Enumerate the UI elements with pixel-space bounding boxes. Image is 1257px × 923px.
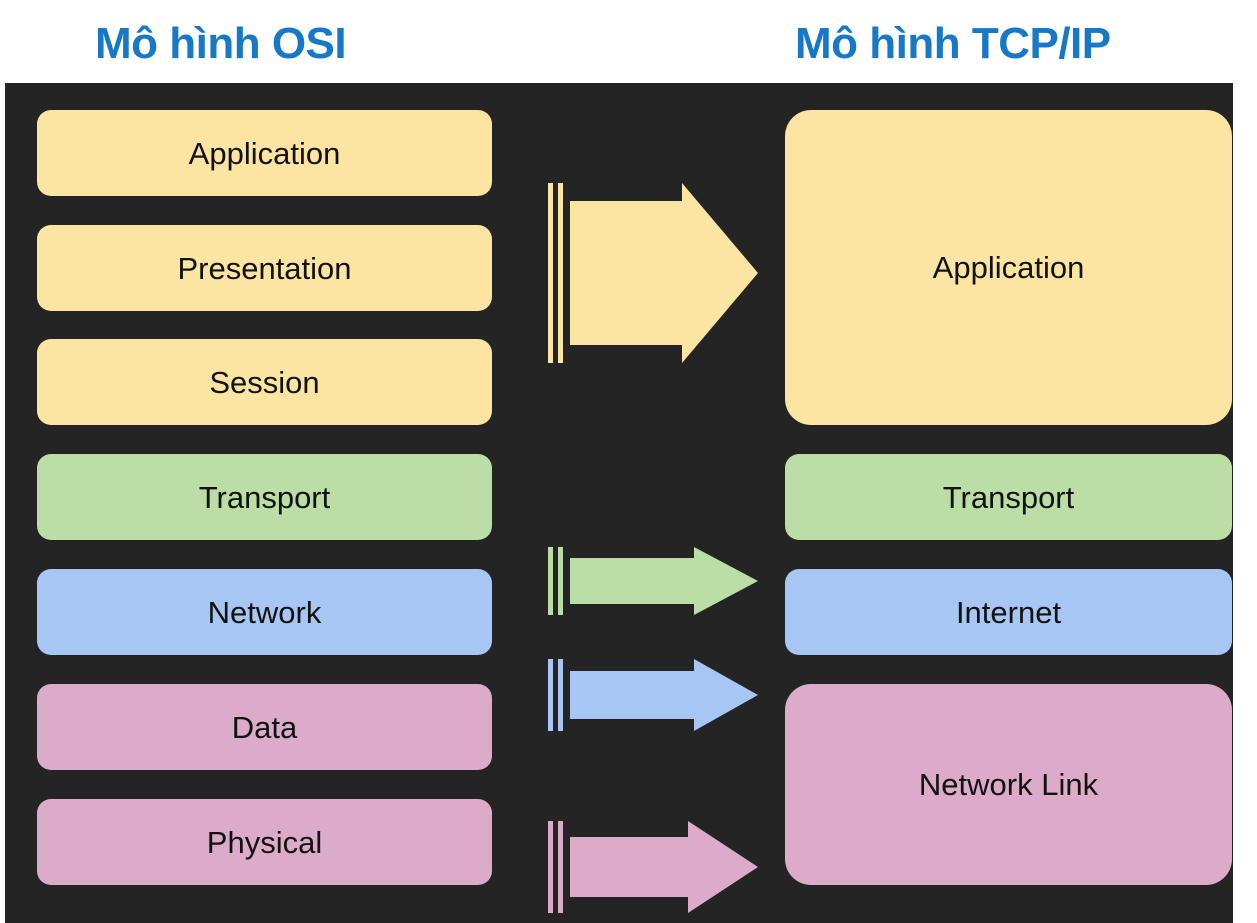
arrow-tail-bar-2 bbox=[558, 659, 563, 731]
page-title-osi: Mô hình OSI bbox=[95, 22, 346, 66]
mapping-arrow-network-link bbox=[548, 821, 758, 913]
page-title-tcpip: Mô hình TCP/IP bbox=[795, 22, 1111, 66]
tcpip-layer-transport[interactable]: Transport bbox=[785, 454, 1232, 540]
arrow-tail-bar-2 bbox=[558, 821, 563, 913]
right-arrow-icon bbox=[570, 821, 758, 913]
right-arrow-icon bbox=[570, 547, 758, 615]
osi-layer-network[interactable]: Network bbox=[37, 569, 492, 655]
tcpip-layer-application[interactable]: Application bbox=[785, 110, 1232, 425]
mapping-arrow-internet bbox=[548, 659, 758, 731]
osi-layer-transport[interactable]: Transport bbox=[37, 454, 492, 540]
right-arrow-icon bbox=[570, 659, 758, 731]
tcpip-layer-internet[interactable]: Internet bbox=[785, 569, 1232, 655]
arrow-tail-bar-2 bbox=[558, 547, 563, 615]
tcpip-layer-network-link[interactable]: Network Link bbox=[785, 684, 1232, 885]
diagram-panel: Application Presentation Session Transpo… bbox=[5, 83, 1233, 923]
arrow-tail-bar-1 bbox=[548, 547, 553, 615]
arrow-tail-bar-2 bbox=[558, 183, 563, 363]
arrow-tail-bar-1 bbox=[548, 821, 553, 913]
right-arrow-icon bbox=[570, 183, 758, 363]
osi-layer-application[interactable]: Application bbox=[37, 110, 492, 196]
arrow-tail-bar-1 bbox=[548, 183, 553, 363]
osi-layer-data[interactable]: Data bbox=[37, 684, 492, 770]
osi-layer-presentation[interactable]: Presentation bbox=[37, 225, 492, 311]
diagram-canvas: Mô hình OSI Mô hình TCP/IP Application P… bbox=[0, 0, 1257, 923]
mapping-arrow-application bbox=[548, 183, 758, 363]
arrow-tail-bar-1 bbox=[548, 659, 553, 731]
osi-layer-physical[interactable]: Physical bbox=[37, 799, 492, 885]
osi-layer-session[interactable]: Session bbox=[37, 339, 492, 425]
mapping-arrow-transport bbox=[548, 547, 758, 615]
